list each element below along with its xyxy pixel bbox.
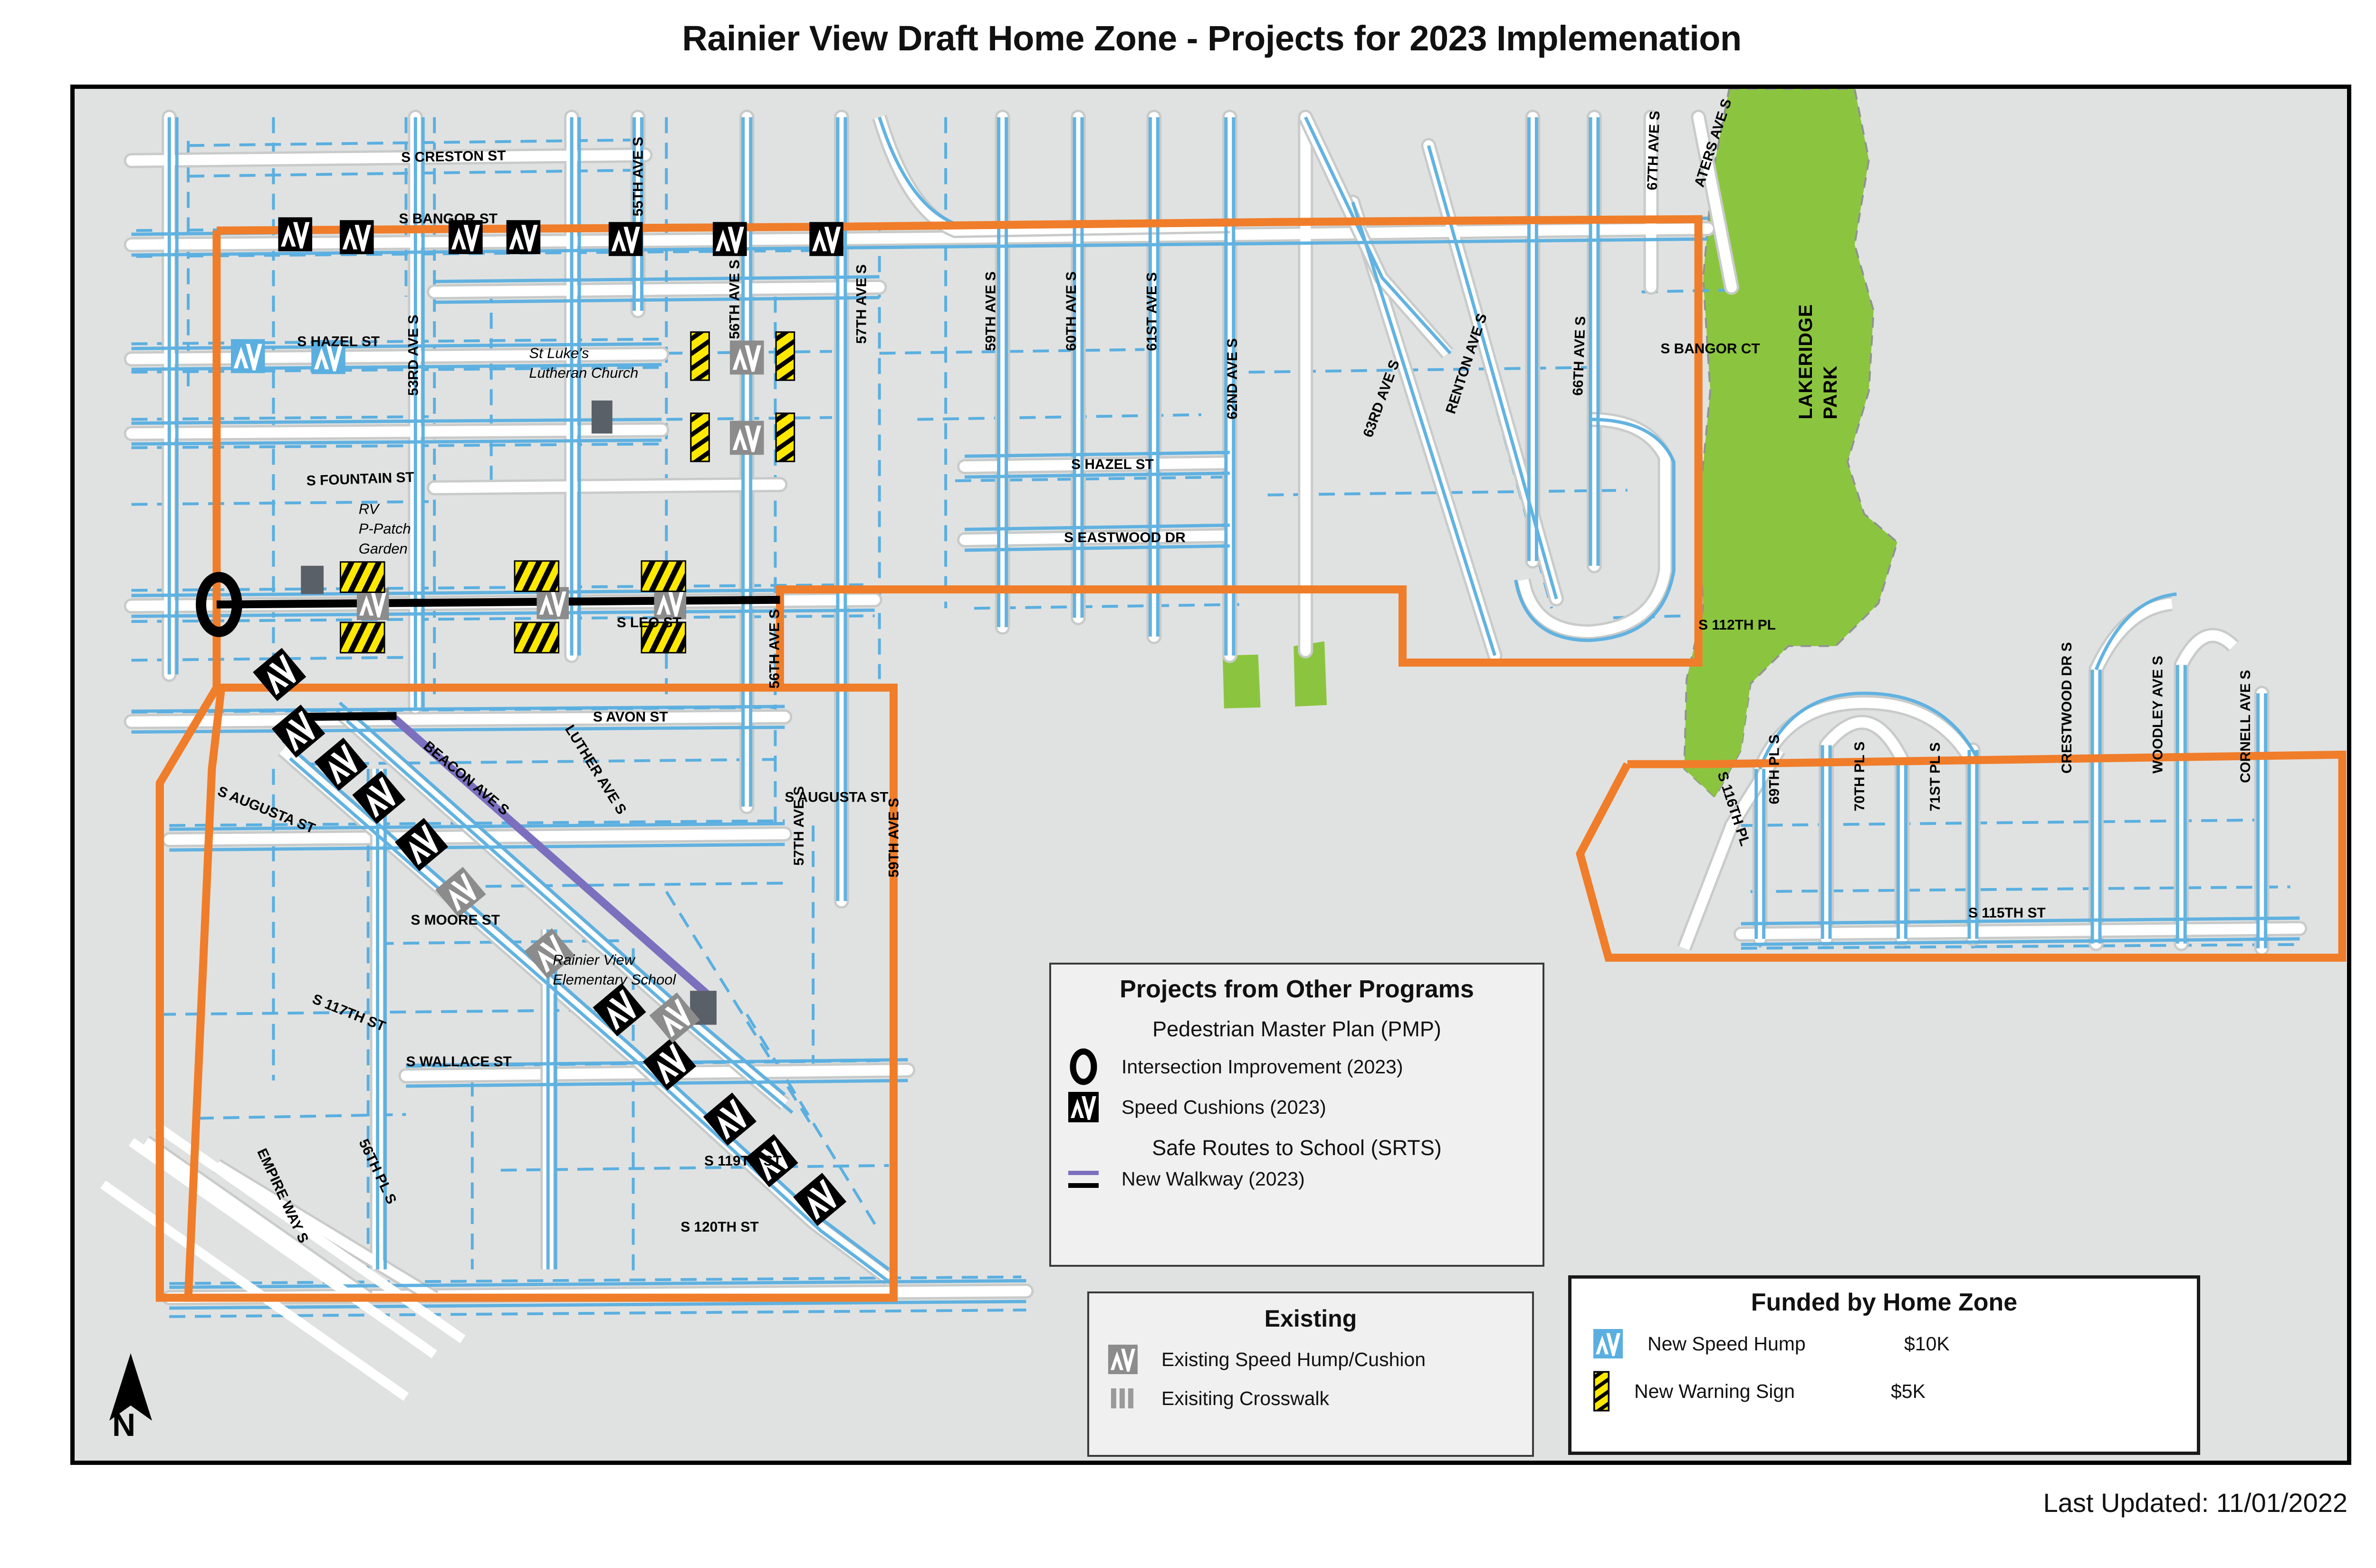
- legend-item-label: New Walkway (2023): [1121, 1168, 1305, 1190]
- street-label-s-moore-st: S MOORE ST: [411, 912, 500, 928]
- legend-subtitle-srts: Safe Routes to School (SRTS): [1051, 1136, 1542, 1160]
- legend-projects-from-other-programs[interactable]: Projects from Other Programs Pedestrian …: [1049, 963, 1544, 1267]
- street-label-66th-ave-s: 66TH AVE S: [1570, 316, 1589, 396]
- legend-item-new-speed-hump[interactable]: New Speed Hump $10K: [1571, 1329, 2197, 1358]
- street-label-s-leo-st: S LEO ST: [617, 615, 681, 631]
- street-label-56th-ave-s-m: 56TH AVE S: [766, 609, 782, 688]
- legend-funded-by-home-zone[interactable]: Funded by Home Zone New Speed Hump $10K: [1568, 1275, 2200, 1455]
- legend-item-label: New Speed Hump: [1648, 1333, 1904, 1355]
- street-label-s-bangor-st: S BANGOR ST: [399, 211, 498, 227]
- circle-outline-icon: [1068, 1048, 1099, 1085]
- street-label-67th-ave-s: 67TH AVE S: [1644, 111, 1663, 191]
- street-label-s-creston-st: S CRESTON ST: [401, 148, 506, 165]
- map-page: Rainier View Draft Home Zone - Projects …: [0, 0, 2376, 1568]
- street-label-s-119th-st: S 119TH ST: [704, 1153, 782, 1169]
- new-walkway-line-icon: [1068, 1167, 1099, 1191]
- street-label-71st-pl-s: 71ST PL S: [1927, 742, 1943, 811]
- street-label-59th-ave-s-n: 59TH AVE S: [983, 271, 999, 351]
- legend-item-existing-speed-hump[interactable]: Existing Speed Hump/Cushion: [1089, 1345, 1532, 1374]
- legend-item-label: New Warning Sign: [1634, 1380, 1891, 1403]
- street-label-s-eastwood-dr: S EASTWOOD DR: [1064, 530, 1186, 545]
- legend-title: Projects from Other Programs: [1051, 975, 1542, 1004]
- street-label-cornell-ave-s: CORNELL AVE S: [2238, 670, 2253, 783]
- legend-item-label: Intersection Improvement (2023): [1121, 1056, 1403, 1078]
- street-label-57th-ave-s-n: 57TH AVE S: [854, 264, 870, 344]
- building-p-patch: [301, 566, 324, 594]
- street-label-57th-ave-s-s: 57TH AVE S: [791, 786, 807, 865]
- street-label-crestwood-dr-s: CRESTWOOD DR S: [2059, 642, 2075, 774]
- street-label-s-bangor-ct: S BANGOR CT: [1660, 341, 1760, 357]
- street-label-60th-ave-s-n: 60TH AVE S: [1063, 271, 1079, 351]
- street-label-61st-ave-s-n: 61ST AVE S: [1144, 272, 1159, 351]
- legend-item-intersection-improvement[interactable]: Intersection Improvement (2023): [1051, 1048, 1542, 1085]
- legend-item-speed-cushions[interactable]: Speed Cushions (2023): [1051, 1092, 1542, 1122]
- legend-item-cost: $10K: [1904, 1333, 1950, 1355]
- legend-item-label: Exisiting Crosswalk: [1161, 1387, 1329, 1410]
- speed-hump-gray-icon: [1108, 1345, 1138, 1374]
- new-warning-sign-icon: [1593, 1371, 1610, 1412]
- street-label-s-avon-st: S AVON ST: [593, 709, 668, 725]
- street-label-s-112th-pl: S 112TH PL: [1698, 617, 1776, 633]
- street-label-70th-pl-s: 70TH PL S: [1852, 742, 1868, 812]
- legend-item-existing-crosswalk[interactable]: Exisiting Crosswalk: [1089, 1386, 1532, 1410]
- street-label-53rd-ave-s: 53RD AVE S: [405, 315, 421, 396]
- street-label-s-115th-st: S 115TH ST: [1968, 905, 2046, 921]
- new-speed-hump-blue-icon: [1593, 1329, 1623, 1358]
- speed-cushion-black-icon: [1068, 1092, 1099, 1122]
- street-label-59th-ave-s-s: 59TH AVE S: [886, 798, 901, 877]
- building-church: [592, 401, 613, 434]
- street-label-s-hazel-st-w: S HAZEL ST: [297, 334, 380, 350]
- north-arrow-label: N: [112, 1406, 135, 1444]
- legend-subtitle-pmp: Pedestrian Master Plan (PMP): [1051, 1017, 1542, 1042]
- street-label-56th-ave-s-n: 56TH AVE S: [727, 259, 743, 339]
- street-label-s-120th-st: S 120TH ST: [680, 1219, 758, 1235]
- legend-existing[interactable]: Existing Existing Speed Hump/Cushion Exi…: [1087, 1291, 1534, 1457]
- street-label-62nd-ave-s: 62ND AVE S: [1225, 338, 1240, 420]
- legend-title: Funded by Home Zone: [1571, 1288, 2197, 1317]
- legend-item-cost: $5K: [1891, 1380, 1926, 1403]
- legend-title: Existing: [1089, 1305, 1532, 1332]
- street-label-55th-ave-s: 55TH AVE S: [630, 137, 646, 216]
- street-label-woodley-ave-s: WOODLEY AVE S: [2150, 656, 2165, 774]
- street-label-69th-pl-s: 69TH PL S: [1766, 735, 1782, 804]
- legend-item-label: Existing Speed Hump/Cushion: [1161, 1348, 1426, 1371]
- crosswalk-bars-icon: [1108, 1386, 1138, 1410]
- street-label-s-wallace-st: S WALLACE ST: [406, 1054, 511, 1070]
- page-title: Rainier View Draft Home Zone - Projects …: [0, 18, 2376, 58]
- legend-item-label: Speed Cushions (2023): [1121, 1096, 1326, 1119]
- legend-item-new-walkway[interactable]: New Walkway (2023): [1051, 1167, 1542, 1191]
- last-updated-text: Last Updated: 11/01/2022: [2043, 1487, 2347, 1518]
- legend-item-new-warning-sign[interactable]: New Warning Sign $5K: [1571, 1371, 2197, 1412]
- street-label-s-hazel-st-e: S HAZEL ST: [1071, 457, 1154, 472]
